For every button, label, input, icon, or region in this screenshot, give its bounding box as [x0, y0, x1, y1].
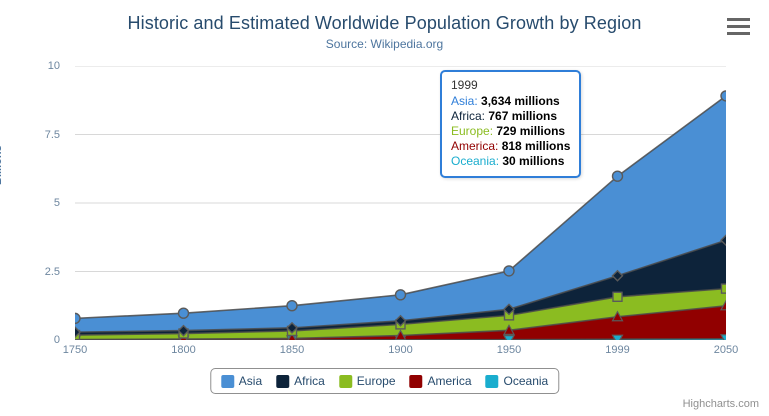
tooltip-series-value: 729 millions — [496, 124, 565, 138]
y-axis-tick-label: 2.5 — [45, 266, 60, 278]
tooltip-row: Asia: 3,634 millions — [451, 94, 570, 109]
tooltip-series-value: 818 millions — [502, 139, 571, 153]
x-axis-tick-label: 2050 — [714, 344, 738, 356]
legend-label: Oceania — [504, 374, 549, 388]
chart-canvas — [75, 66, 726, 340]
tooltip-series-name: America: — [451, 139, 502, 153]
legend-swatch-icon — [221, 375, 234, 388]
legend-item-asia[interactable]: Asia — [221, 374, 262, 388]
y-axis-tick-label: 0 — [54, 334, 60, 346]
tooltip-series-value: 3,634 millions — [481, 94, 560, 108]
tooltip-row: America: 818 millions — [451, 139, 570, 154]
data-point-asia[interactable] — [287, 301, 297, 311]
legend-item-america[interactable]: America — [410, 374, 472, 388]
legend-item-oceania[interactable]: Oceania — [486, 374, 549, 388]
tooltip-series-name: Africa: — [451, 109, 488, 123]
x-axis-tick-label: 1750 — [63, 344, 87, 356]
legend: AsiaAfricaEuropeAmericaOceania — [210, 368, 559, 394]
y-axis-tick-label: 7.5 — [45, 129, 60, 141]
data-point-asia[interactable] — [179, 308, 189, 318]
data-point-asia[interactable] — [75, 313, 80, 323]
legend-swatch-icon — [410, 375, 423, 388]
tooltip-row: Europe: 729 millions — [451, 124, 570, 139]
plot-area — [75, 66, 726, 340]
x-axis: 1750180018501900195019992050 — [75, 344, 726, 362]
tooltip-rows: Asia: 3,634 millionsAfrica: 767 millions… — [451, 94, 570, 169]
data-point-europe[interactable] — [722, 284, 727, 293]
data-point-asia[interactable] — [504, 266, 514, 276]
legend-label: Africa — [294, 374, 325, 388]
chart-subtitle: Source: Wikipedia.org — [0, 37, 769, 51]
y-axis-tick-label: 10 — [48, 60, 60, 72]
tooltip-row: Oceania: 30 millions — [451, 154, 570, 169]
y-axis: 02.557.510 — [0, 66, 68, 340]
legend-swatch-icon — [339, 375, 352, 388]
legend-swatch-icon — [486, 375, 499, 388]
data-point-asia[interactable] — [613, 171, 623, 181]
legend-item-europe[interactable]: Europe — [339, 374, 396, 388]
x-axis-tick-label: 1800 — [171, 344, 195, 356]
x-axis-tick-label: 1999 — [605, 344, 629, 356]
hamburger-menu-icon[interactable] — [727, 18, 753, 38]
tooltip-header: 1999 — [451, 78, 570, 92]
data-point-oceania[interactable] — [504, 336, 514, 340]
y-axis-tick-label: 5 — [54, 197, 60, 209]
x-axis-tick-label: 1950 — [497, 344, 521, 356]
credits-label[interactable]: Highcharts.com — [683, 398, 759, 410]
tooltip-row: Africa: 767 millions — [451, 109, 570, 124]
tooltip-series-name: Europe: — [451, 124, 496, 138]
y-axis-title: Billions — [0, 145, 4, 185]
data-point-europe[interactable] — [613, 292, 622, 301]
legend-label: Asia — [239, 374, 262, 388]
page-title: Historic and Estimated Worldwide Populat… — [0, 13, 769, 34]
data-point-asia[interactable] — [396, 290, 406, 300]
legend-item-africa[interactable]: Africa — [276, 374, 325, 388]
tooltip-series-value: 30 millions — [502, 154, 564, 168]
tooltip: 1999 Asia: 3,634 millionsAfrica: 767 mil… — [440, 70, 581, 178]
legend-label: Europe — [357, 374, 396, 388]
menu-bar-2 — [727, 25, 750, 28]
legend-swatch-icon — [276, 375, 289, 388]
x-axis-tick-label: 1900 — [388, 344, 412, 356]
highcharts-container: Historic and Estimated Worldwide Populat… — [0, 0, 769, 416]
x-axis-tick-label: 1850 — [280, 344, 304, 356]
tooltip-series-name: Oceania: — [451, 154, 502, 168]
tooltip-series-value: 767 millions — [488, 109, 557, 123]
tooltip-series-name: Asia: — [451, 94, 481, 108]
legend-label: America — [428, 374, 472, 388]
menu-bar-3 — [727, 32, 750, 35]
data-point-asia[interactable] — [721, 91, 726, 101]
menu-bar-1 — [727, 18, 750, 21]
